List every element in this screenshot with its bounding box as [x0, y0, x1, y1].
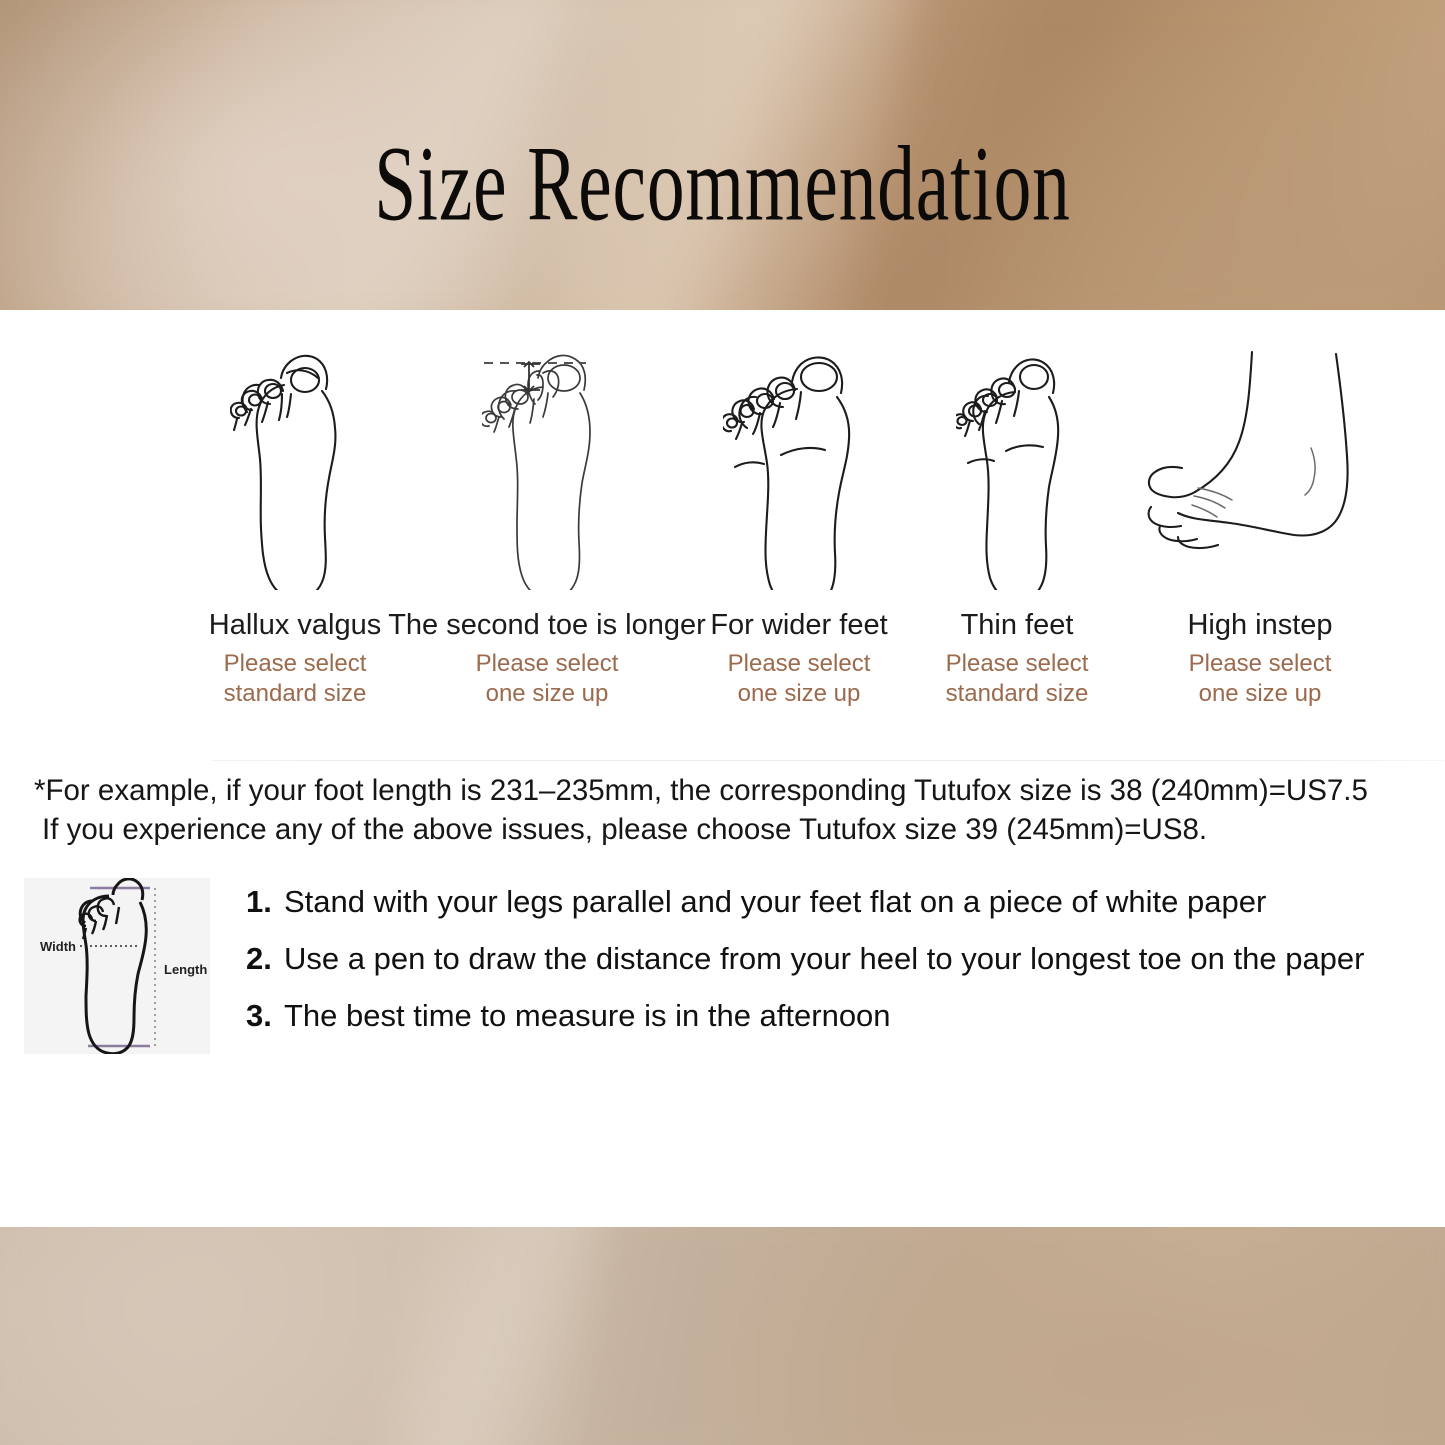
- foot-type-advice: Please select one size up: [728, 649, 871, 708]
- advice-line-2: standard size: [224, 679, 367, 708]
- step-number: 3.: [246, 998, 284, 1034]
- example-note: *For example, if your foot length is 231…: [34, 772, 1424, 850]
- step-number: 1.: [246, 884, 284, 920]
- foot-type-card-hallux-valgus: Hallux valgus Please select standard siz…: [195, 340, 395, 708]
- foot-type-label: High instep: [1187, 610, 1332, 640]
- page-title: Size Recommendation: [130, 130, 1315, 237]
- foot-type-card-second-toe-longer: The second toe is longer Please select o…: [413, 340, 681, 708]
- measure-steps-section: Width Length 1. Stand with your legs par…: [24, 878, 1424, 1054]
- foot-side-profile-high-instep-icon: [1140, 340, 1380, 590]
- step-text: Stand with your legs parallel and your f…: [284, 885, 1266, 919]
- foot-type-label: Hallux valgus: [209, 610, 381, 640]
- step-text: The best time to measure is in the after…: [284, 999, 891, 1033]
- footprint-wide-icon: [723, 340, 875, 590]
- advice-line-1: Please select: [476, 649, 619, 678]
- foot-type-advice: Please select one size up: [1189, 649, 1332, 708]
- foot-type-advice: Please select standard size: [224, 649, 367, 708]
- foot-type-card-high-instep: High instep Please select one size up: [1135, 340, 1385, 708]
- foot-type-card-wider-feet: For wider feet Please select one size up: [699, 340, 899, 708]
- advice-line-1: Please select: [224, 649, 367, 678]
- footer-banner: [0, 1227, 1445, 1445]
- footprint-hallux-valgus-icon: [230, 340, 360, 590]
- step-item: 3. The best time to measure is in the af…: [246, 998, 1424, 1034]
- steps-list: 1. Stand with your legs parallel and you…: [246, 878, 1424, 1034]
- advice-line-1: Please select: [1189, 649, 1332, 678]
- length-label: Length: [164, 962, 207, 977]
- advice-line-1: Please select: [946, 649, 1089, 678]
- width-label: Width: [40, 939, 76, 954]
- foot-type-label: The second toe is longer: [388, 610, 706, 640]
- main-content: Hallux valgus Please select standard siz…: [0, 310, 1445, 1227]
- advice-line-2: one size up: [1189, 679, 1332, 708]
- example-note-line-1: *For example, if your foot length is 231…: [34, 772, 1424, 811]
- advice-line-2: one size up: [728, 679, 871, 708]
- step-item: 2. Use a pen to draw the distance from y…: [246, 941, 1424, 977]
- example-note-line-2: If you experience any of the above issue…: [34, 811, 1424, 850]
- footprint-thin-icon: [956, 340, 1078, 590]
- step-text: Use a pen to draw the distance from your…: [284, 942, 1365, 976]
- step-item: 1. Stand with your legs parallel and you…: [246, 884, 1424, 920]
- advice-line-2: one size up: [476, 679, 619, 708]
- foot-type-label: Thin feet: [961, 610, 1074, 640]
- advice-line-1: Please select: [728, 649, 871, 678]
- footprint-second-toe-longer-icon: [482, 340, 612, 590]
- foot-type-advice: Please select standard size: [946, 649, 1089, 708]
- foot-type-card-thin-feet: Thin feet Please select standard size: [917, 340, 1117, 708]
- foot-measurement-diagram-icon: Width Length: [24, 878, 210, 1054]
- advice-line-2: standard size: [946, 679, 1089, 708]
- step-number: 2.: [246, 941, 284, 977]
- foot-type-advice: Please select one size up: [476, 649, 619, 708]
- foot-type-label: For wider feet: [710, 610, 887, 640]
- foot-type-row: Hallux valgus Please select standard siz…: [195, 340, 1385, 708]
- section-divider: [212, 760, 1445, 761]
- header-banner: Size Recommendation: [0, 0, 1445, 310]
- footer-background-gradient: [0, 1227, 1445, 1445]
